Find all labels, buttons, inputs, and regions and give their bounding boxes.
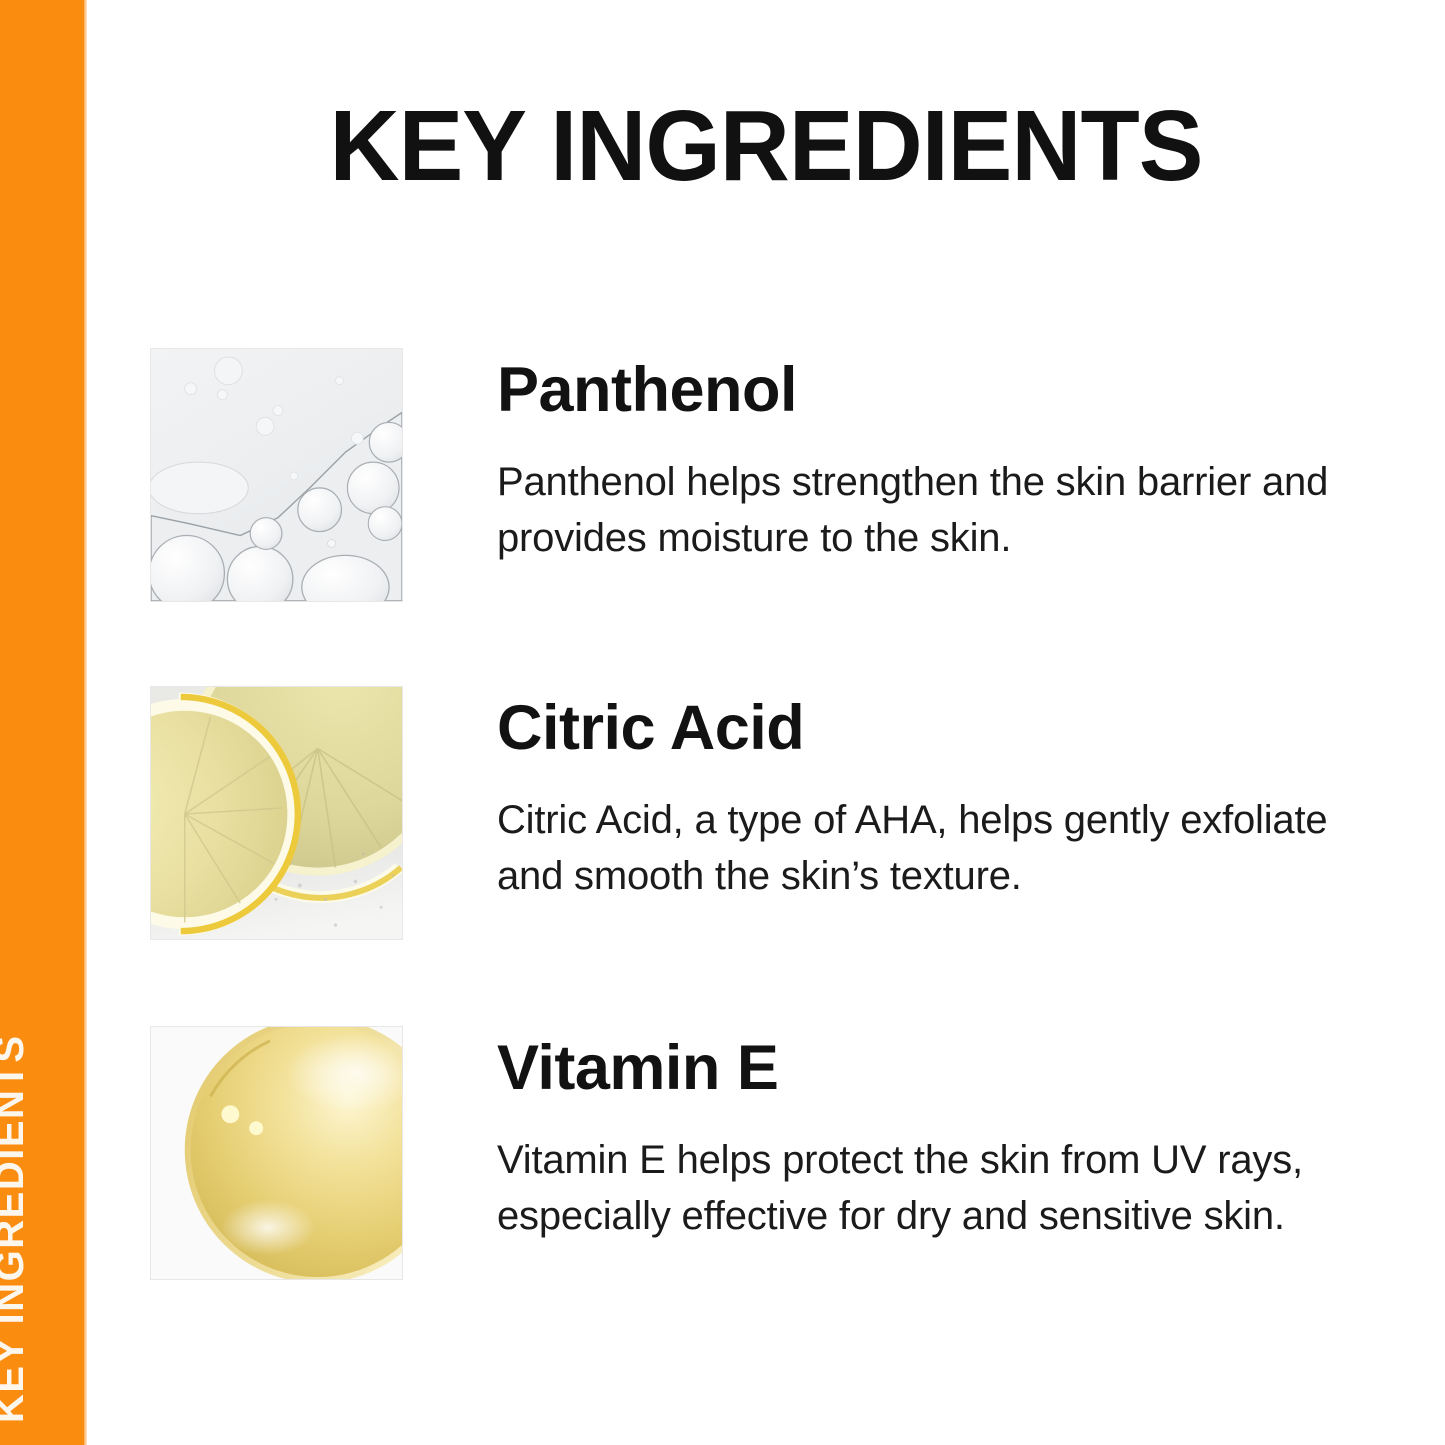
clear-gel-bubbles-image (151, 349, 402, 601)
ingredient-row: Citric Acid Citric Acid, a type of AHA, … (150, 686, 1380, 942)
golden-oil-droplet-image (151, 1027, 402, 1279)
ingredient-text-block: Citric Acid Citric Acid, a type of AHA, … (497, 686, 1377, 905)
ingredient-text-block: Vitamin E Vitamin E helps protect the sk… (497, 1026, 1377, 1245)
lemon-slices-image (151, 687, 402, 939)
ingredient-thumbnail-vitamin-e (150, 1026, 403, 1280)
side-band: KEY INGREDIENTS (0, 0, 87, 1445)
side-band-label-wrap: KEY INGREDIENTS (0, 1015, 87, 1445)
ingredient-description: Vitamin E helps protect the skin from UV… (497, 1132, 1377, 1246)
side-band-label: KEY INGREDIENTS (0, 1035, 30, 1424)
ingredient-name: Vitamin E (497, 1036, 1377, 1102)
ingredient-description: Citric Acid, a type of AHA, helps gently… (497, 792, 1377, 906)
ingredient-thumbnail-citric-acid (150, 686, 403, 940)
ingredient-row: Vitamin E Vitamin E helps protect the sk… (150, 1026, 1380, 1282)
page-title: KEY INGREDIENTS (107, 96, 1424, 196)
ingredient-thumbnail-panthenol (150, 348, 403, 602)
ingredient-name: Panthenol (497, 358, 1377, 424)
ingredient-row: Panthenol Panthenol helps strengthen the… (150, 348, 1380, 604)
ingredient-description: Panthenol helps strengthen the skin barr… (497, 454, 1377, 568)
ingredient-text-block: Panthenol Panthenol helps strengthen the… (497, 348, 1377, 567)
ingredient-name: Citric Acid (497, 696, 1377, 762)
content-area: KEY INGREDIENTS (87, 0, 1445, 1445)
